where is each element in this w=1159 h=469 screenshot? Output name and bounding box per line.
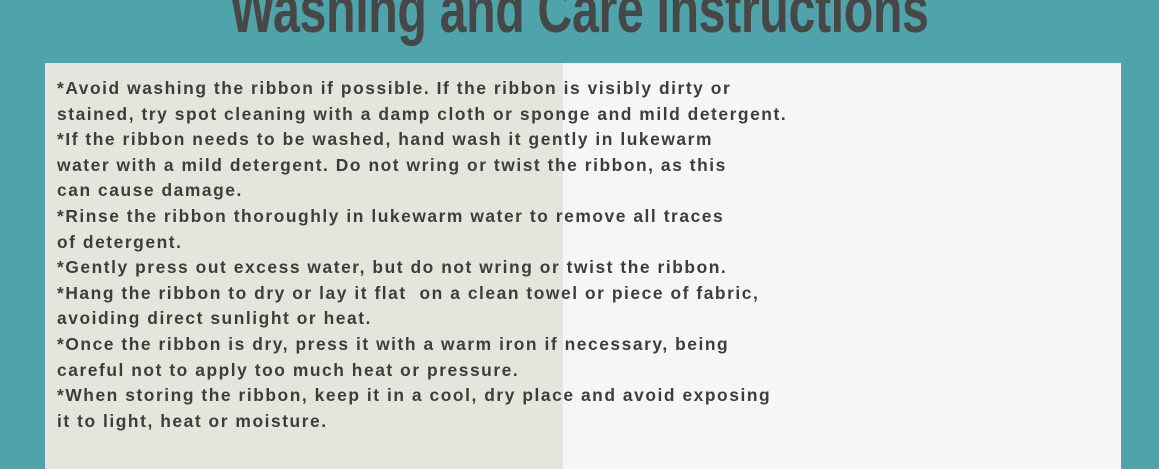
instruction-line: careful not to apply too much heat or pr… [57, 358, 1113, 384]
page-title: Washing and Care Instructions [230, 0, 929, 43]
care-instructions-page: Washing and Care Instructions *Avoid was… [0, 0, 1159, 469]
instruction-line: *If the ribbon needs to be washed, hand … [57, 127, 1113, 153]
instruction-line: *When storing the ribbon, keep it in a c… [57, 383, 1113, 409]
instruction-line: stained, try spot cleaning with a damp c… [57, 102, 1113, 128]
instruction-line: *Once the ribbon is dry, press it with a… [57, 332, 1113, 358]
title-band: Washing and Care Instructions [0, 0, 1159, 63]
instruction-line: water with a mild detergent. Do not wrin… [57, 153, 1113, 179]
instruction-line: *Avoid washing the ribbon if possible. I… [57, 76, 1113, 102]
instruction-line: *Gently press out excess water, but do n… [57, 255, 1113, 281]
instruction-line: can cause damage. [57, 178, 1113, 204]
instruction-line: it to light, heat or moisture. [57, 409, 1113, 435]
instruction-line: *Hang the ribbon to dry or lay it flat o… [57, 281, 1113, 307]
instructions-list: *Avoid washing the ribbon if possible. I… [57, 76, 1113, 434]
instruction-line: of detergent. [57, 230, 1113, 256]
instruction-line: avoiding direct sunlight or heat. [57, 306, 1113, 332]
instruction-line: *Rinse the ribbon thoroughly in lukewarm… [57, 204, 1113, 230]
instructions-card: *Avoid washing the ribbon if possible. I… [45, 63, 1121, 469]
